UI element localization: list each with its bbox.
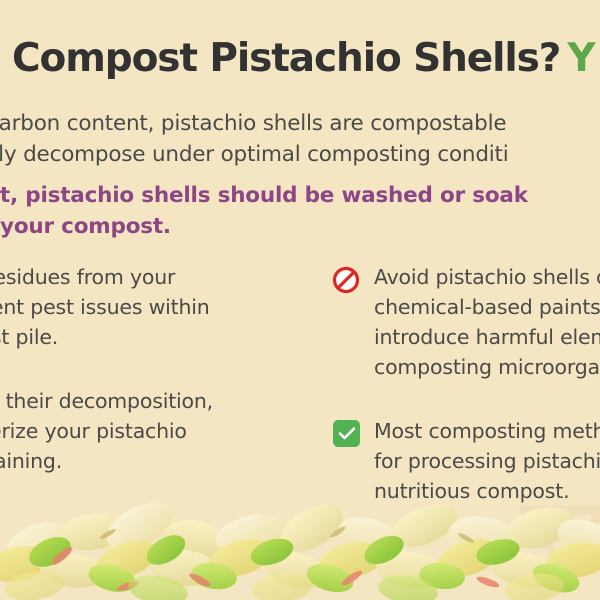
note-line-2: your compost. [0,211,600,242]
bullet-text: Avoid pistachio shells co chemical-based… [374,262,600,382]
intro-paragraph: ir carbon content, pistachio shells are … [0,108,600,170]
intro-line-1: ir carbon content, pistachio shells are … [0,108,600,139]
bullet-text: erate their decomposition, pulverize you… [0,386,286,476]
bullet-line: pulverize your pistachio [0,416,286,446]
bullet-line: Most composting metho [374,416,600,446]
bullet-text: nut residues from your prevent pest issu… [0,262,286,352]
bullet-line: prevent pest issues within [0,292,286,322]
bullet-line: chemical-based paints a [374,292,600,322]
bullet-line: nut residues from your [0,262,286,292]
prohibition-icon [332,266,360,294]
list-item: nut residues from your prevent pest issu… [0,262,286,352]
list-item: erate their decomposition, pulverize you… [0,386,286,476]
intro-line-2: ually decompose under optimal composting… [0,139,600,170]
bullet-line: composting microorgan [374,352,600,382]
bullet-line: Avoid pistachio shells co [374,262,600,292]
bullet-line: er draining. [0,446,286,476]
pistachio-nuts-illustration [0,482,600,600]
note-line-1: or not, pistachio shells should be washe… [0,180,600,211]
page-title-accent: Y [567,36,594,81]
infographic-canvas: Compost Pistachio Shells?Y ir carbon con… [0,0,600,600]
page-title: Compost Pistachio Shells?Y [12,36,594,81]
bullet-line: erate their decomposition, [0,386,286,416]
bullet-line: mpost pile. [0,322,286,352]
left-bullet-column: nut residues from your prevent pest issu… [0,262,286,498]
bullet-line: for processing pistachio [374,446,600,476]
bullet-line: introduce harmful eleme [374,322,600,352]
highlighted-note: or not, pistachio shells should be washe… [0,180,600,242]
check-icon [333,420,360,447]
page-title-text: Compost Pistachio Shells? [12,36,560,81]
list-item: Avoid pistachio shells co chemical-based… [330,262,600,382]
